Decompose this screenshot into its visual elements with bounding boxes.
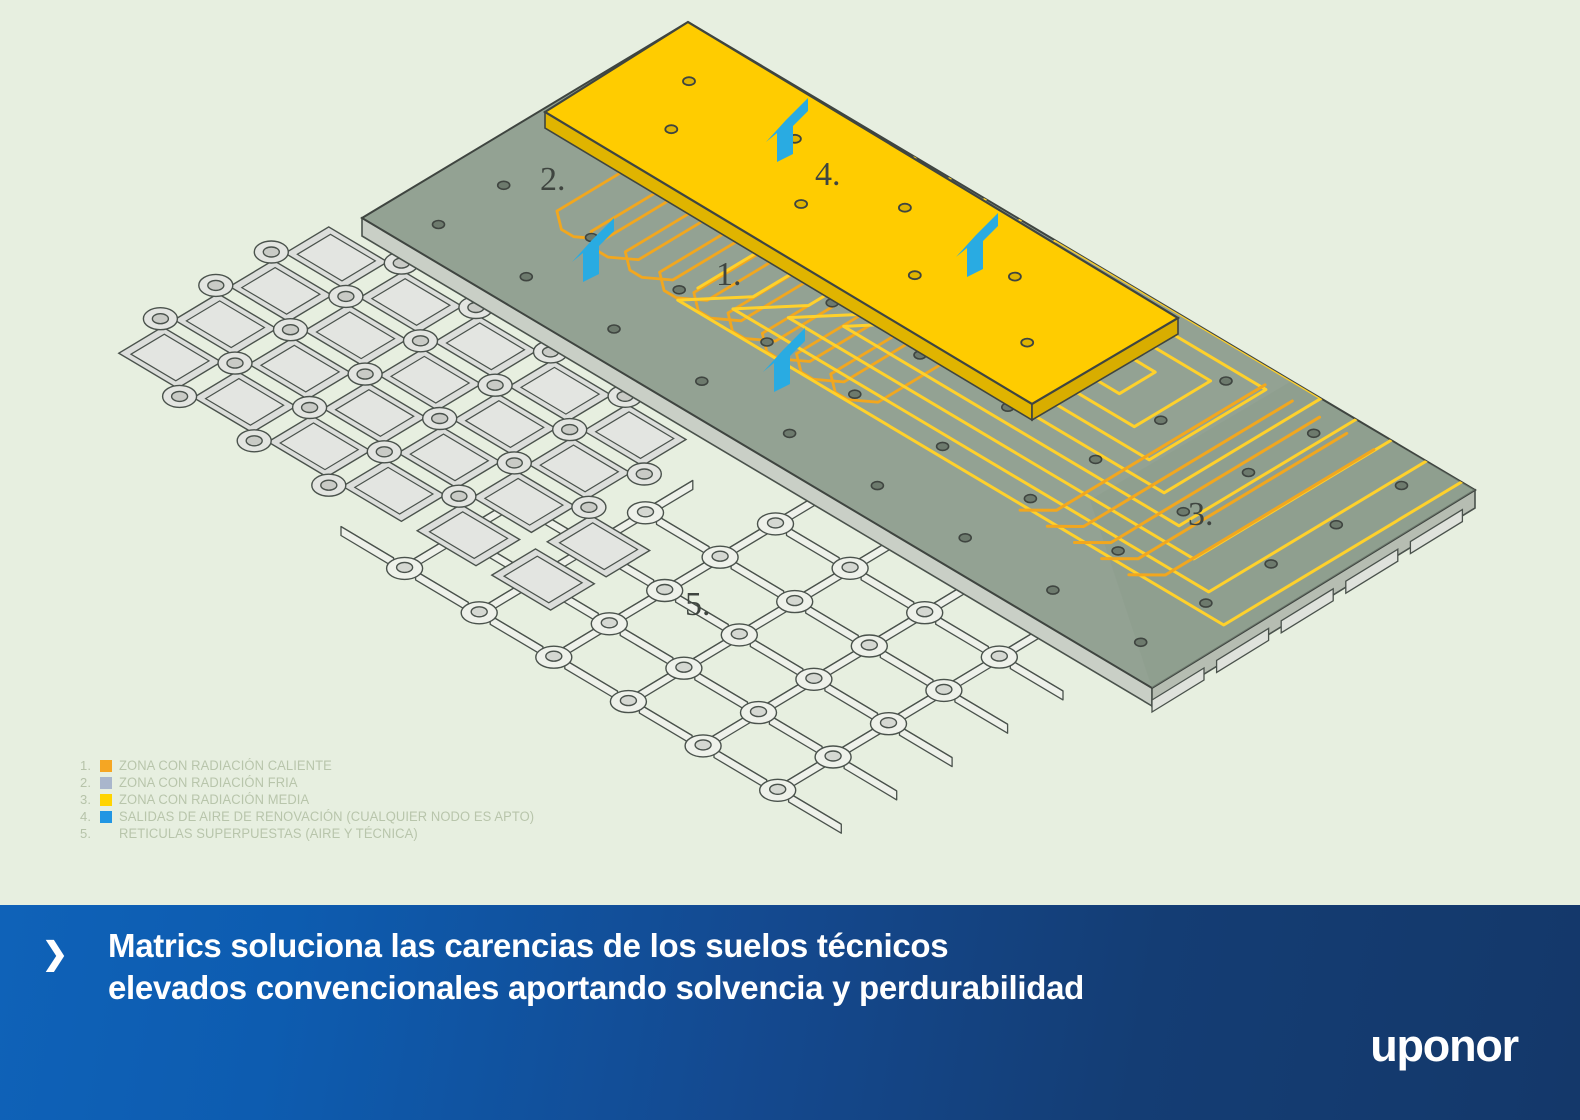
slab-node-hole [1047,586,1059,594]
legend-swatch-hot [100,760,112,772]
slab-node-hole [1200,599,1212,607]
legend-number: 3. [80,792,100,807]
slab-node-hole [1265,560,1277,568]
floor-node-connector [627,463,661,485]
yellow-panel-node-hole [1009,273,1021,281]
legend-label: ZONA CON RADIACIÓN CALIENTE [119,758,332,773]
slab-node-hole [1112,547,1124,555]
lattice-node-connector [777,591,813,613]
floor-node-connector [237,430,271,452]
legend-item-4: 4. SALIDAS DE AIRE DE RENOVACIÓN (CUALQU… [80,808,600,825]
floor-node-connector [143,308,177,330]
yellow-panel-node-hole [899,204,911,212]
slab-node-hole [696,377,708,385]
figure-number-4: 4. [815,156,841,193]
slab-node-hole [937,442,949,450]
lattice-node-connector [647,580,683,602]
slab-node-hole [1308,429,1320,437]
figure-number-1: 1. [716,256,742,293]
floor-node-connector [199,274,233,296]
legend-number: 4. [80,809,100,824]
slab-node-hole [520,273,532,281]
legend-item-1: 1. ZONA CON RADIACIÓN CALIENTE [80,757,600,774]
slab-node-hole [784,429,796,437]
lattice-node-connector [815,746,851,768]
legend-swatch-none [100,828,112,840]
legend-swatch-air [100,811,112,823]
lattice-node-connector [926,679,962,701]
lattice-node-connector [758,513,794,535]
slab-node-hole [871,482,883,490]
lattice-node-connector [796,668,832,690]
floor-node-connector [553,419,587,441]
floor-node-connector [163,385,197,407]
lattice-node-connector [628,502,664,524]
legend-swatch-cold [100,777,112,789]
legend-label: ZONA CON RADIACIÓN FRIA [119,775,298,790]
slab-node-hole [1155,416,1167,424]
lattice-node-connector [387,557,423,579]
slab-node-hole [608,325,620,333]
floor-node-connector [404,330,438,352]
legend-number: 1. [80,758,100,773]
floor-node-connector [497,452,531,474]
floor-node-connector [254,241,288,263]
banner-headline: Matrics soluciona las carencias de los s… [108,925,1458,1009]
lattice-node-connector [666,657,702,679]
slab-node-hole [498,181,510,189]
floor-node-connector [218,352,252,374]
legend-label: RETICULAS SUPERPUESTAS (AIRE Y TÉCNICA) [119,826,418,841]
figure-number-2: 2. [540,161,566,198]
yellow-panel-node-hole [665,125,677,133]
lattice-node-connector [832,557,868,579]
slab-node-hole [1243,469,1255,477]
banner-headline-line2: elevados convencionales aportando solven… [108,967,1458,1009]
floor-node-connector [478,374,512,396]
legend-swatch-medium [100,794,112,806]
slab-node-hole [1330,521,1342,529]
legend-item-2: 2. ZONA CON RADIACIÓN FRIA [80,774,600,791]
lattice-node-connector [591,613,627,635]
floor-node-connector [329,285,363,307]
lattice-node-connector [685,735,721,757]
floor-node-connector [572,496,606,518]
lattice-node-connector [981,646,1017,668]
legend-number: 5. [80,826,100,841]
legend-item-5: 5. RETICULAS SUPERPUESTAS (AIRE Y TÉCNIC… [80,825,600,842]
lattice-node-connector [851,635,887,657]
lattice-node-connector [721,624,757,646]
floor-node-connector [312,474,346,496]
legend-number: 2. [80,775,100,790]
floor-node-connector [423,408,457,430]
slab-node-hole [1090,455,1102,463]
lattice-node-connector [610,691,646,713]
legend-label: ZONA CON RADIACIÓN MEDIA [119,792,309,807]
slab-node-hole [849,390,861,398]
yellow-panel-node-hole [795,200,807,208]
lattice-node-connector [536,646,572,668]
lattice-node-connector [907,602,943,624]
figure-number-3: 3. [1188,496,1214,533]
slab-node-hole [761,338,773,346]
floor-node-connector [442,485,476,507]
figure-number-5: 5. [685,586,711,623]
lattice-node-connector [702,546,738,568]
legend: 1. ZONA CON RADIACIÓN CALIENTE 2. ZONA C… [80,757,600,842]
legend-label: SALIDAS DE AIRE DE RENOVACIÓN (CUALQUIER… [119,809,534,824]
floor-node-connector [293,397,327,419]
legend-item-3: 3. ZONA CON RADIACIÓN MEDIA [80,791,600,808]
slab-node-hole [433,221,445,229]
lattice-node-connector [871,713,907,735]
yellow-panel-node-hole [683,77,695,85]
yellow-panel-node-hole [1021,339,1033,347]
slab-node-hole [673,286,685,294]
lattice-node-connector [741,702,777,724]
lattice-node-connector [760,779,796,801]
page-root: 1.2.3.4.5. 1. ZONA CON RADIACIÓN CALIENT… [0,0,1580,1120]
slab-node-hole [1396,482,1408,490]
slab-node-hole [1220,377,1232,385]
floor-node-connector [367,441,401,463]
slab-node-hole [1135,638,1147,646]
slab-node-hole [959,534,971,542]
yellow-panel-node-hole [909,271,921,279]
chevron-right-icon: ❯ [42,938,68,969]
uponor-logo: uponor [1370,1023,1518,1068]
floor-node-connector [348,363,382,385]
floor-node-connector [274,319,308,341]
banner-headline-line1: Matrics soluciona las carencias de los s… [108,927,948,964]
lattice-node-connector [461,602,497,624]
slab-node-hole [1024,495,1036,503]
